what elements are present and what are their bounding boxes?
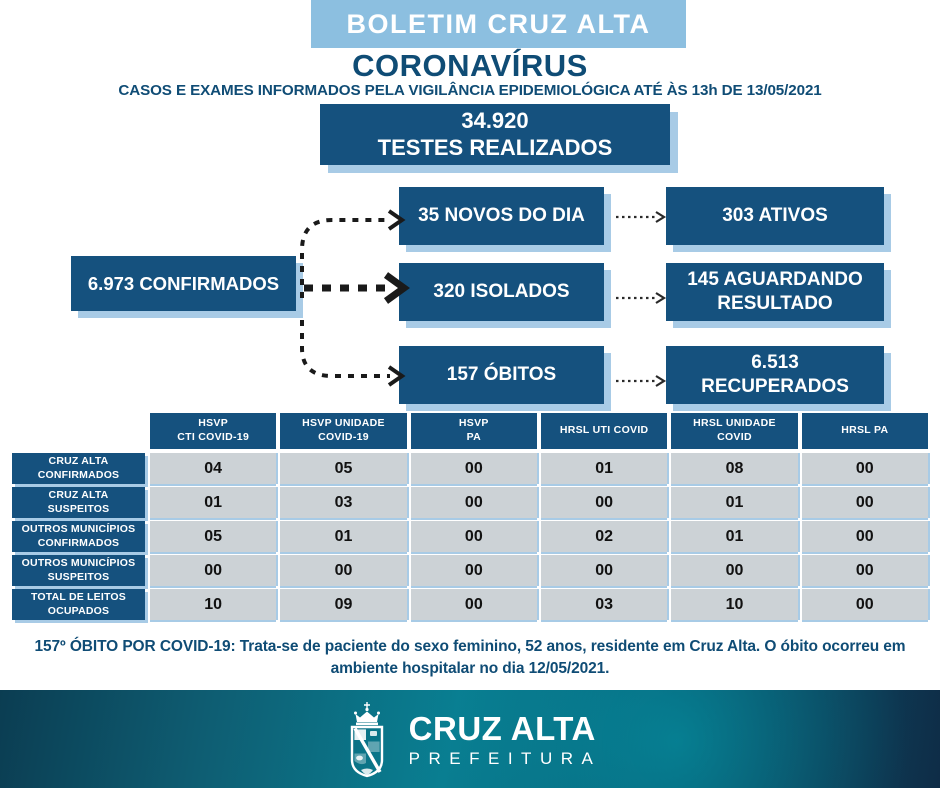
table-row-label: TOTAL DE LEITOSOCUPADOS [12,589,145,620]
table-cell: 01 [541,453,667,484]
table-row: TOTAL DE LEITOSOCUPADOS 10 09 00 03 10 0… [12,589,928,620]
awaiting-result-line1: 145 AGUARDANDO [687,268,863,292]
death-note: 157º ÓBITO POR COVID-19: Trata-se de pac… [18,636,922,681]
table-column-header: HSVP UNIDADECOVID-19 [280,413,406,449]
active-cases-card-body: 303 ATIVOS [666,187,884,245]
table-column-header: HRSL UTI COVID [541,413,667,449]
col-header-line1: HSVP [198,417,228,429]
isolated-card-body: 320 ISOLADOS [399,263,604,321]
col-header-line1: HRSL UTI COVID [560,424,649,436]
row-label-line2: CONFIRMADOS [38,469,120,481]
table-cell: 00 [802,453,928,484]
table-cell: 00 [411,555,537,586]
table-row: OUTROS MUNICÍPIOSSUSPEITOS 00 00 00 00 0… [12,555,928,586]
row-label-line1: CRUZ ALTA [49,489,109,501]
table-cell: 10 [671,589,797,620]
table-cell: 00 [802,487,928,518]
active-cases-card: 303 ATIVOS [666,187,884,245]
table-header-row: HSVPCTI COVID-19 HSVP UNIDADECOVID-19 HS… [12,413,928,449]
table-cell: 02 [541,521,667,552]
title-banner: BOLETIM CRUZ ALTA [311,0,686,48]
table-cell: 00 [411,453,537,484]
row-label-line1: OUTROS MUNICÍPIOS [22,523,136,535]
table-cell: 08 [671,453,797,484]
col-header-line2: PA [467,431,481,443]
banner-title-text: BOLETIM CRUZ ALTA [347,9,651,40]
row-label-line2: SUSPEITOS [48,571,110,583]
table-cell: 09 [280,589,406,620]
col-header-line2: CTI COVID-19 [177,431,249,443]
recovered-card-body: 6.513 RECUPERADOS [666,346,884,404]
tests-number: 34.920 [461,108,528,135]
connector-arrow-aguardando [614,286,670,310]
awaiting-result-line2: RESULTADO [717,292,832,316]
col-header-line2: COVID [717,431,752,443]
connector-arrow-ativos [614,205,670,229]
table-column-header: HSVPCTI COVID-19 [150,413,276,449]
row-label-line2: CONFIRMADOS [38,537,120,549]
footer-text-group: CRUZ ALTA PREFEITURA [409,712,602,767]
confirmed-stat-card: 6.973 CONFIRMADOS [71,256,296,311]
table-column-header: HSVPPA [411,413,537,449]
table-cell: 04 [150,453,276,484]
table-cell: 00 [411,487,537,518]
branch-arrows-group [290,180,410,395]
table-cell: 00 [280,555,406,586]
coat-of-arms-icon [339,700,395,778]
table-row-label: CRUZ ALTACONFIRMADOS [12,453,145,484]
table-cell: 01 [671,521,797,552]
row-label-line2: SUSPEITOS [48,503,110,515]
table-row-label: CRUZ ALTASUSPEITOS [12,487,145,518]
table-cell: 00 [802,589,928,620]
header: BOLETIM CRUZ ALTA CORONAVÍRUS CASOS E EX… [0,0,940,105]
table-cell: 00 [802,521,928,552]
arrow-head-middle [386,275,404,301]
table-row-label: OUTROS MUNICÍPIOSSUSPEITOS [12,555,145,586]
footer-bar: CRUZ ALTA PREFEITURA [0,690,940,788]
arrow-head-bottom [389,367,402,385]
col-header-line1: HRSL PA [841,424,888,436]
table-column-header: HRSL PA [802,413,928,449]
table-cell: 00 [671,555,797,586]
table-cell: 00 [802,555,928,586]
awaiting-result-card: 145 AGUARDANDO RESULTADO [666,263,884,321]
row-label-line1: CRUZ ALTA [49,455,109,467]
new-cases-card: 35 NOVOS DO DIA [399,187,604,245]
row-label-line1: OUTROS MUNICÍPIOS [22,557,136,569]
confirmed-card-body: 6.973 CONFIRMADOS [71,256,296,311]
deaths-card: 157 ÓBITOS [399,346,604,404]
table-row: OUTROS MUNICÍPIOSCONFIRMADOS 05 01 00 02… [12,521,928,552]
col-header-line1: HSVP UNIDADE [302,417,385,429]
tests-label: TESTES REALIZADOS [378,135,613,162]
tests-card-body: 34.920 TESTES REALIZADOS [320,104,670,165]
new-cases-card-body: 35 NOVOS DO DIA [399,187,604,245]
table-cell: 03 [280,487,406,518]
page-title: CORONAVÍRUS [0,48,940,84]
table-cell: 01 [150,487,276,518]
col-header-line1: HSVP [459,417,489,429]
table-row: CRUZ ALTASUSPEITOS 01 03 00 00 01 00 [12,487,928,518]
table-column-header: HRSL UNIDADECOVID [671,413,797,449]
table-cell: 00 [150,555,276,586]
tests-stat-card: 34.920 TESTES REALIZADOS [320,104,670,165]
row-label-line2: OCUPADOS [48,605,110,617]
table-cell: 05 [150,521,276,552]
table-cell: 00 [411,521,537,552]
footer-city-name: CRUZ ALTA [409,712,602,745]
table-corner-spacer [12,413,145,449]
table-cell: 00 [411,589,537,620]
col-header-line2: COVID-19 [318,431,369,443]
connector-arrow-recuperados [614,369,670,393]
table-cell: 00 [541,555,667,586]
arrow-path-bottom [302,320,390,376]
footer-logo-group: CRUZ ALTA PREFEITURA [339,700,602,778]
table-cell: 03 [541,589,667,620]
beds-table: HSVPCTI COVID-19 HSVP UNIDADECOVID-19 HS… [12,413,928,623]
recovered-number: 6.513 [751,351,799,375]
table-row: CRUZ ALTACONFIRMADOS 04 05 00 01 08 00 [12,453,928,484]
recovered-card: 6.513 RECUPERADOS [666,346,884,404]
table-cell: 01 [280,521,406,552]
isolated-card: 320 ISOLADOS [399,263,604,321]
awaiting-result-card-body: 145 AGUARDANDO RESULTADO [666,263,884,321]
table-cell: 01 [671,487,797,518]
page-subtitle: CASOS E EXAMES INFORMADOS PELA VIGILÂNCI… [0,82,940,99]
col-header-line1: HRSL UNIDADE [693,417,776,429]
table-cell: 00 [541,487,667,518]
table-row-label: OUTROS MUNICÍPIOSCONFIRMADOS [12,521,145,552]
deaths-card-body: 157 ÓBITOS [399,346,604,404]
arrow-head-top [389,211,402,229]
footer-entity-name: PREFEITURA [409,750,602,767]
recovered-label: RECUPERADOS [701,375,849,399]
table-cell: 10 [150,589,276,620]
row-label-line1: TOTAL DE LEITOS [31,591,126,603]
table-cell: 05 [280,453,406,484]
